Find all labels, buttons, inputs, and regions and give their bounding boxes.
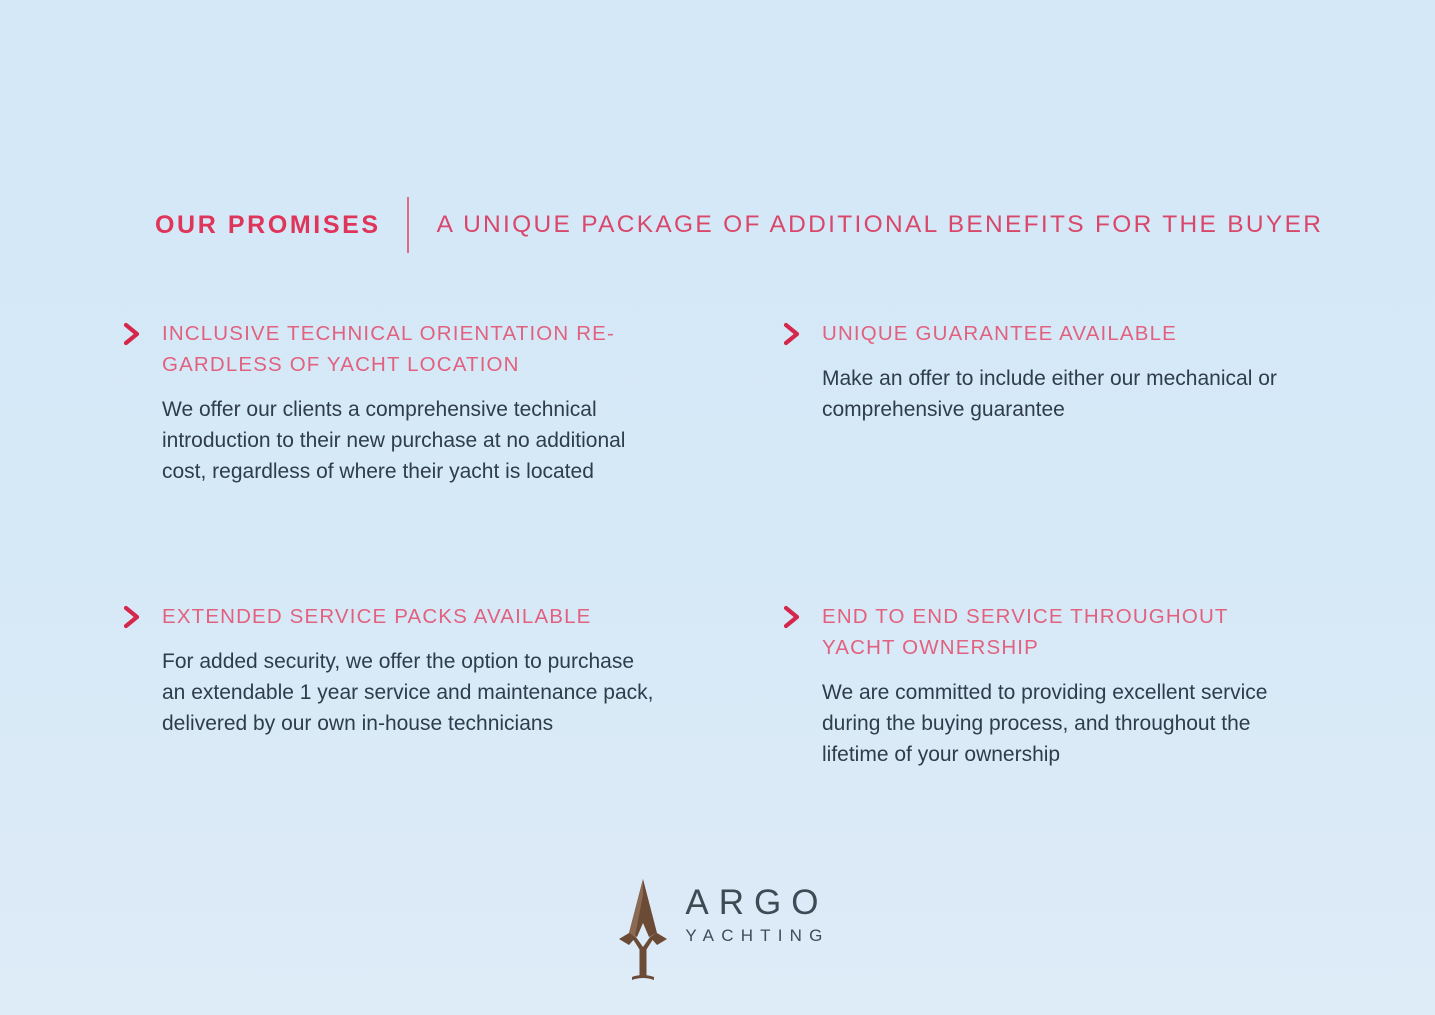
promise-item-extended-service-packs: EXTENDED SERVICE PACKS AVAILABLE For add…: [118, 601, 778, 771]
promise-item-inclusive-technical-orientation: INCLUSIVE TECHNICAL ORIENTATION RE-GARDL…: [118, 318, 778, 601]
logo-tagline: YACHTING: [685, 926, 829, 946]
promise-body: We offer our clients a comprehensive tec…: [162, 394, 662, 487]
chevron-right-icon: [122, 322, 144, 346]
promise-body: Make an offer to include either our mech…: [822, 363, 1292, 425]
promises-grid: INCLUSIVE TECHNICAL ORIENTATION RE-GARDL…: [118, 318, 1318, 771]
promise-item-end-to-end-service: END TO END SERVICE THROUGHOUT YACHT OWNE…: [778, 601, 1318, 771]
chevron-right-icon: [782, 322, 804, 346]
argo-anchor-mark-icon: [605, 875, 681, 983]
argo-yachting-logo: ARGO YACHTING: [605, 875, 829, 983]
header-eyebrow: OUR PROMISES: [155, 213, 381, 238]
promise-title: INCLUSIVE TECHNICAL ORIENTATION RE-GARDL…: [162, 318, 662, 380]
promise-item-unique-guarantee: UNIQUE GUARANTEE AVAILABLE Make an offer…: [778, 318, 1318, 601]
logo-brand-name: ARGO: [685, 885, 829, 922]
chevron-right-icon: [122, 605, 144, 629]
header-divider: [407, 197, 409, 253]
promise-body: We are committed to providing excellent …: [822, 677, 1292, 770]
promise-title: UNIQUE GUARANTEE AVAILABLE: [822, 318, 1292, 349]
page-title: A UNIQUE PACKAGE OF ADDITIONAL BENEFITS …: [437, 213, 1324, 238]
logo-wordmark: ARGO YACHTING: [685, 885, 829, 972]
promises-page: OUR PROMISES A UNIQUE PACKAGE OF ADDITIO…: [0, 0, 1435, 1015]
page-header: OUR PROMISES A UNIQUE PACKAGE OF ADDITIO…: [155, 203, 1323, 247]
promise-title: EXTENDED SERVICE PACKS AVAILABLE: [162, 601, 662, 632]
promise-title: END TO END SERVICE THROUGHOUT YACHT OWNE…: [822, 601, 1292, 663]
promise-body: For added security, we offer the option …: [162, 646, 662, 739]
page-footer: ARGO YACHTING: [0, 875, 1435, 983]
chevron-right-icon: [782, 605, 804, 629]
